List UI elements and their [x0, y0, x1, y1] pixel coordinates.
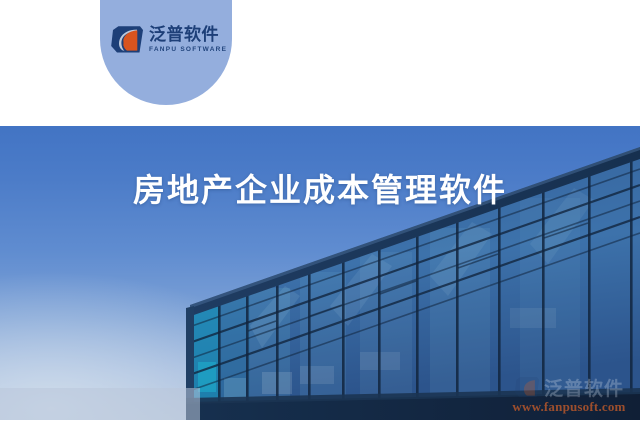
watermark: 泛普软件 www.fanpusoft.com — [502, 373, 636, 415]
watermark-brand-name: 泛普软件 — [544, 374, 624, 401]
footer-strip — [0, 420, 640, 427]
fanpu-hexagon-logo-icon — [514, 376, 540, 399]
logo-badge: 泛普软件 FANPU SOFTWARE — [100, 0, 232, 105]
page-title: 房地产企业成本管理软件 — [0, 165, 640, 211]
hero-banner: 房地产企业成本管理软件 泛普软件 www.fanpusoft.com — [0, 126, 640, 420]
brand-lockup[interactable]: 泛普软件 FANPU SOFTWARE — [110, 22, 228, 58]
promo-banner-page: 泛普软件 FANPU SOFTWARE — [0, 0, 640, 427]
brand-name-english: FANPU SOFTWARE — [149, 47, 227, 54]
brand-wordmark: 泛普软件 FANPU SOFTWARE — [149, 27, 227, 54]
watermark-lockup: 泛普软件 — [502, 373, 636, 401]
fanpu-hexagon-logo-icon — [110, 25, 144, 55]
brand-name-chinese: 泛普软件 — [149, 27, 227, 44]
watermark-url[interactable]: www.fanpusoft.com — [502, 399, 636, 415]
page-header: 泛普软件 FANPU SOFTWARE — [0, 0, 640, 126]
